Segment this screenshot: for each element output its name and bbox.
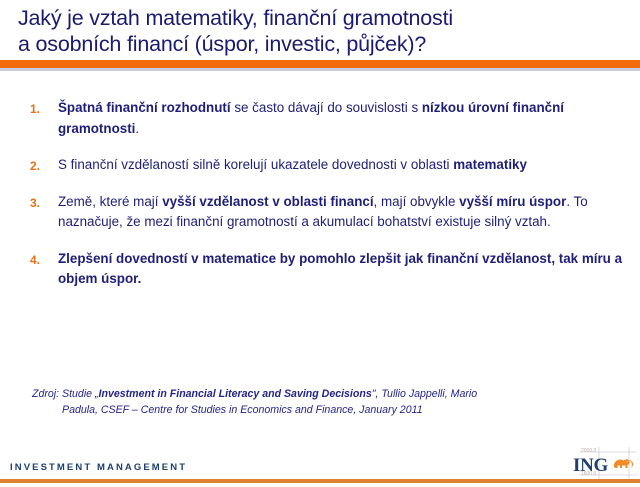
list-item: 4. Zlepšení dovedností v matematice by p… <box>30 249 626 290</box>
source-citation: Zdroj: Studie „Investment in Financial L… <box>32 386 612 418</box>
source-line-1: Zdroj: Studie „Investment in Financial L… <box>32 388 477 400</box>
source-line-2: Padula, CSEF – Centre for Studies in Eco… <box>32 402 612 418</box>
ing-lion-icon <box>612 456 634 472</box>
list-item: 1. Špatná finanční rozhodnutí se často d… <box>30 98 626 139</box>
list-item: 3. Země, které mají vyšší vzdělanost v o… <box>30 192 626 233</box>
page-title: Jaký je vztah matematiky, finanční gramo… <box>18 5 626 57</box>
list-item-number: 4. <box>30 250 50 271</box>
page-title-line-2: a osobních financí (úspor, investic, půj… <box>18 31 626 57</box>
logo-wordmark: ING <box>573 455 608 477</box>
list-item-text: Špatná finanční rozhodnutí se často dáva… <box>58 98 626 139</box>
footer-divider-orange <box>0 479 640 483</box>
ing-logo: 2000.0 1600.0 ING <box>573 447 637 481</box>
list-item-text: Země, které mají vyšší vzdělanost v obla… <box>58 192 626 233</box>
title-divider-orange <box>0 60 640 68</box>
list-item-number: 3. <box>30 193 50 214</box>
list-item: 2. S finanční vzdělaností silně korelují… <box>30 155 626 176</box>
footer-label: INVESTMENT MANAGEMENT <box>10 462 187 473</box>
list-item-number: 2. <box>30 156 50 177</box>
logo-tick-top-label: 2000.0 <box>581 448 596 454</box>
numbered-list: 1. Špatná finanční rozhodnutí se často d… <box>30 98 626 306</box>
list-item-number: 1. <box>30 99 50 120</box>
page-title-line-1: Jaký je vztah matematiky, finanční gramo… <box>18 5 626 31</box>
list-item-text: Zlepšení dovedností v matematice by pomo… <box>58 249 626 290</box>
list-item-text: S finanční vzdělaností silně korelují uk… <box>58 155 626 176</box>
title-divider-shadow <box>0 68 640 71</box>
